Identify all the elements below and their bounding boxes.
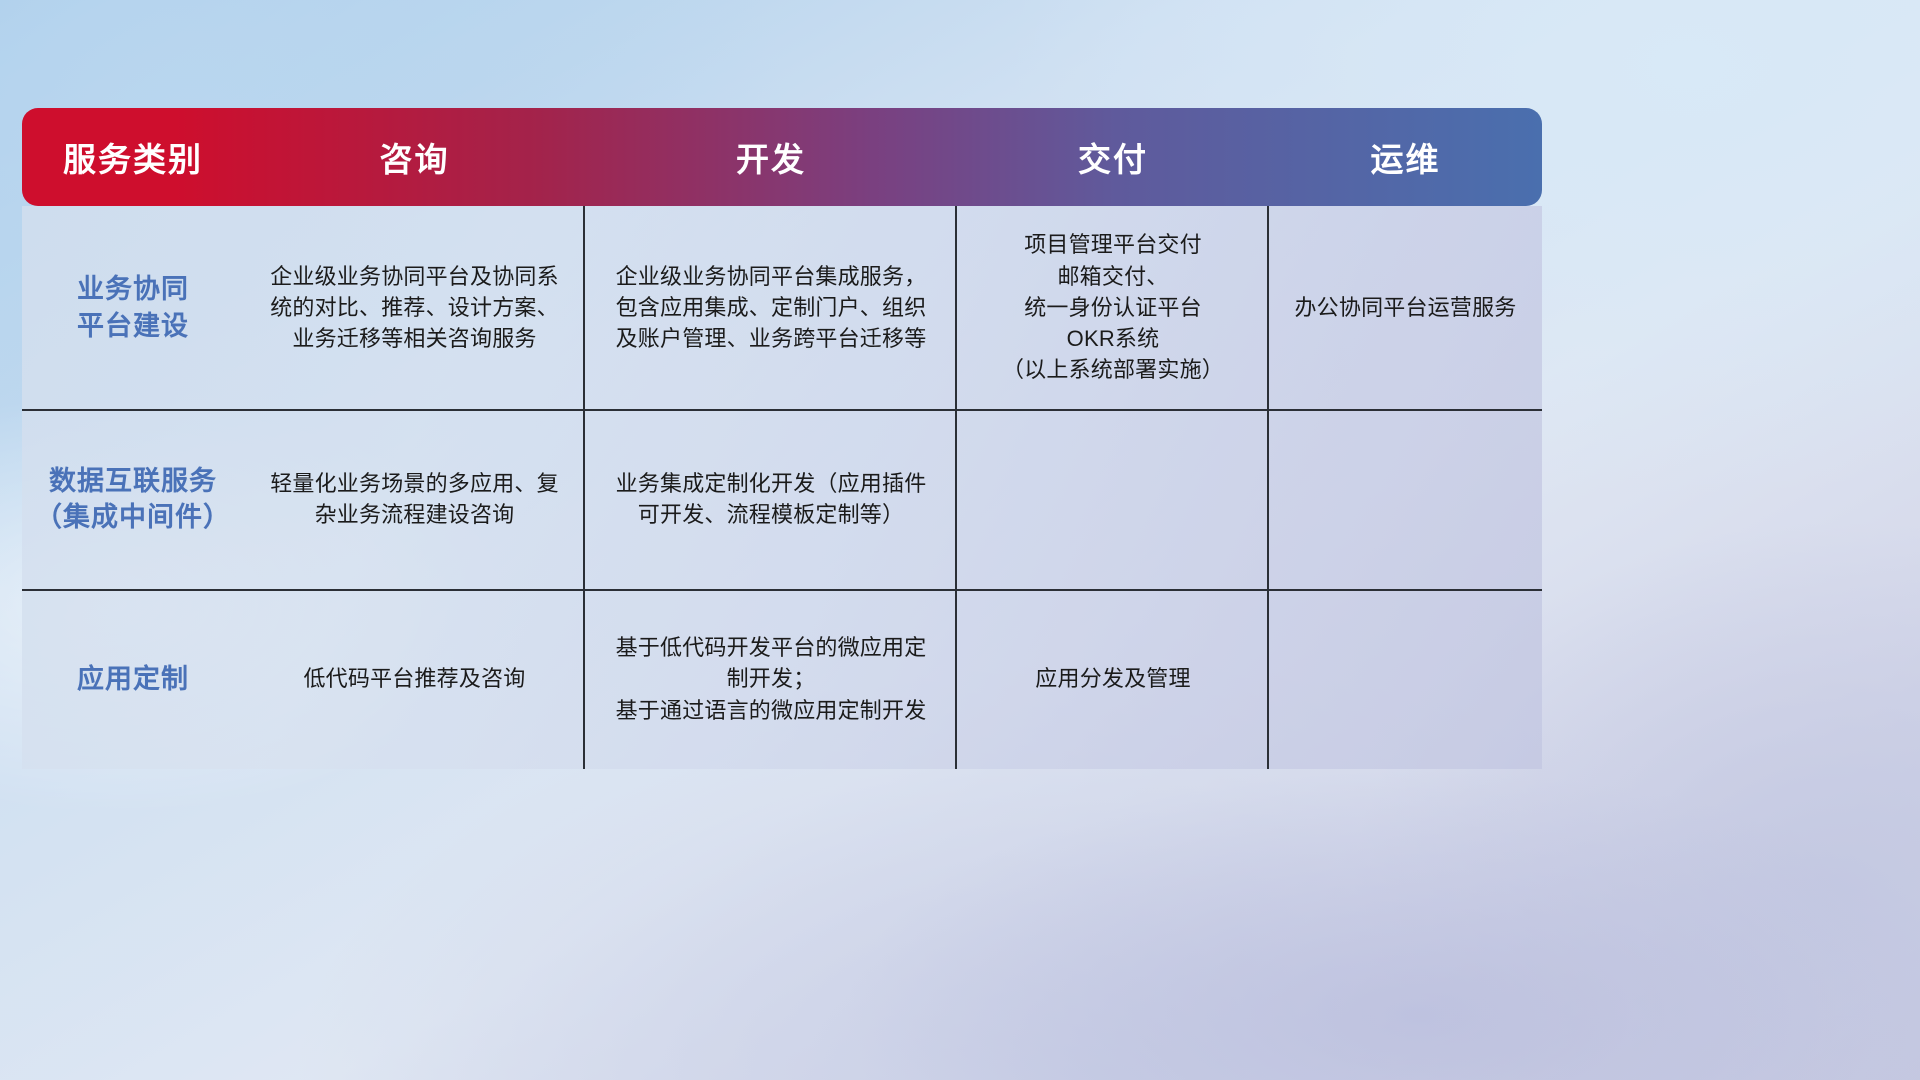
cell-text: 企业级业务协同平台及协同系 统的对比、推荐、设计方案、 业务迁移等相关咨询服务	[270, 261, 559, 355]
row-label-text: 应用定制	[77, 661, 189, 697]
row-label-cell: 业务协同 平台建设	[22, 206, 244, 409]
header-cell-service-category: 服务类别	[22, 133, 244, 181]
cell-text: 轻量化业务场景的多应用、复 杂业务流程建设咨询	[270, 468, 559, 530]
table-row: 业务协同 平台建设 企业级业务协同平台及协同系 统的对比、推荐、设计方案、 业务…	[22, 206, 1542, 409]
row-label-text: 数据互联服务 （集成中间件）	[35, 463, 231, 535]
table-header-row: 服务类别 咨询 开发 交付 运维	[22, 108, 1542, 206]
table-row: 应用定制 低代码平台推荐及咨询 基于低代码开发平台的微应用定 制开发； 基于通过…	[22, 589, 1542, 769]
row-label-cell: 数据互联服务 （集成中间件）	[22, 409, 244, 589]
cell-consulting: 轻量化业务场景的多应用、复 杂业务流程建设咨询	[244, 409, 585, 589]
table-body: 业务协同 平台建设 企业级业务协同平台及协同系 统的对比、推荐、设计方案、 业务…	[22, 206, 1542, 769]
cell-text: 基于低代码开发平台的微应用定 制开发； 基于通过语言的微应用定制开发	[616, 632, 927, 726]
row-label-text: 业务协同 平台建设	[77, 271, 189, 343]
cell-text: 业务集成定制化开发（应用插件 可开发、流程模板定制等）	[616, 468, 927, 530]
cell-text: 低代码平台推荐及咨询	[303, 663, 525, 694]
cell-consulting: 企业级业务协同平台及协同系 统的对比、推荐、设计方案、 业务迁移等相关咨询服务	[244, 206, 585, 409]
cell-development: 企业级业务协同平台集成服务， 包含应用集成、定制门户、组织 及账户管理、业务跨平…	[585, 206, 957, 409]
cell-operations: 办公协同平台运营服务	[1269, 206, 1542, 409]
table-row: 数据互联服务 （集成中间件） 轻量化业务场景的多应用、复 杂业务流程建设咨询 业…	[22, 409, 1542, 589]
row-label-cell: 应用定制	[22, 589, 244, 769]
cell-development: 基于低代码开发平台的微应用定 制开发； 基于通过语言的微应用定制开发	[585, 589, 957, 769]
cell-text: 办公协同平台运营服务	[1294, 292, 1516, 323]
cell-text: 应用分发及管理	[1035, 663, 1190, 694]
cell-text: 企业级业务协同平台集成服务， 包含应用集成、定制门户、组织 及账户管理、业务跨平…	[616, 261, 927, 355]
header-cell-consulting: 咨询	[244, 133, 585, 181]
header-cell-operations: 运维	[1269, 133, 1542, 181]
header-cell-delivery: 交付	[957, 133, 1269, 181]
cell-development: 业务集成定制化开发（应用插件 可开发、流程模板定制等）	[585, 409, 957, 589]
cell-delivery: 应用分发及管理	[957, 589, 1269, 769]
cell-text: 项目管理平台交付 邮箱交付、 统一身份认证平台 OKR系统 （以上系统部署实施）	[1002, 229, 1224, 385]
cell-delivery	[957, 409, 1269, 589]
cell-consulting: 低代码平台推荐及咨询	[244, 589, 585, 769]
service-matrix-table: 服务类别 咨询 开发 交付 运维 业务协同 平台建设 企业级业务协同平台及协同系…	[22, 108, 1542, 769]
cell-operations	[1269, 589, 1542, 769]
cell-delivery: 项目管理平台交付 邮箱交付、 统一身份认证平台 OKR系统 （以上系统部署实施）	[957, 206, 1269, 409]
header-cell-development: 开发	[585, 133, 957, 181]
cell-operations	[1269, 409, 1542, 589]
